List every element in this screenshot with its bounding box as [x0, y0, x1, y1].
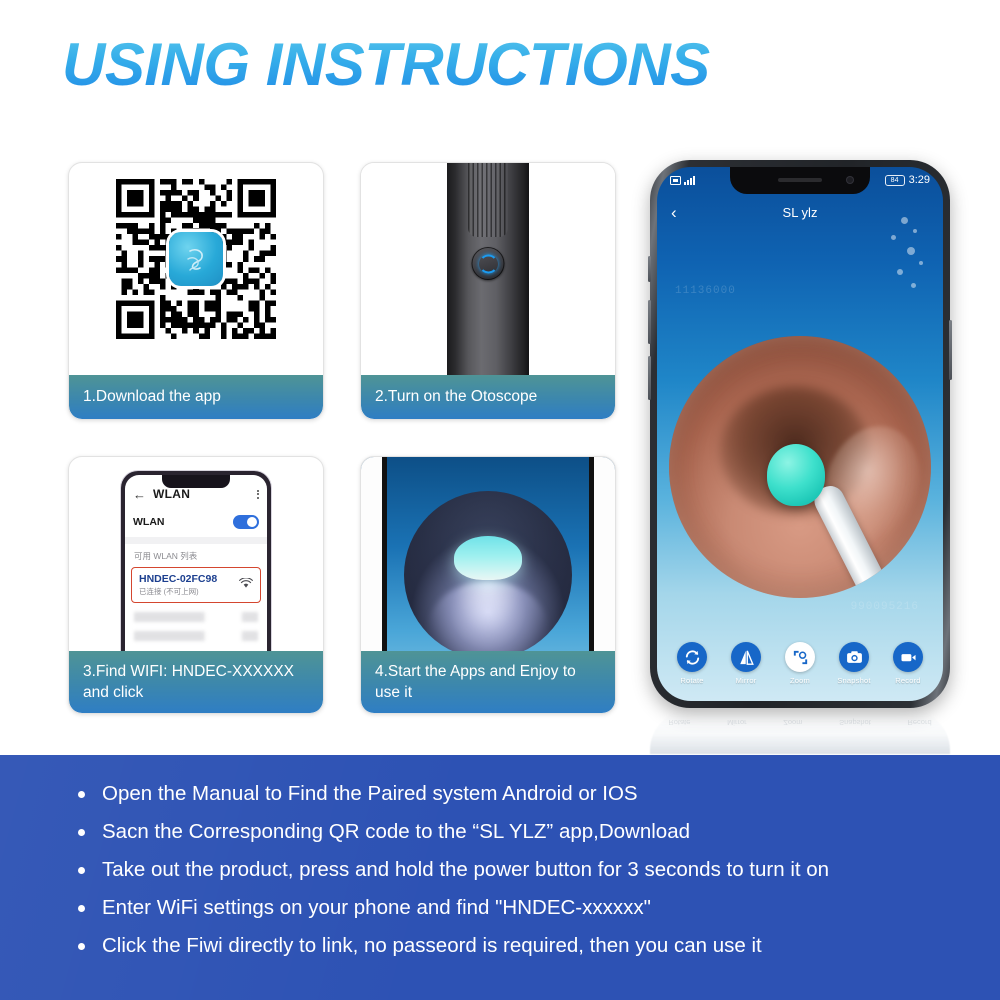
sim-card-icon — [670, 176, 681, 185]
wlan-phone-mockup: ← WLAN WLAN 可用 WLAN 列表 HNDEC-0 — [121, 471, 271, 675]
reflection-label: Snapshot — [839, 718, 871, 727]
qr-code — [116, 179, 276, 339]
toolbar-label: Rotate — [669, 676, 715, 685]
card-caption: 4.Start the Apps and Enjoy to use it — [361, 651, 615, 713]
toolbar-item-zoom[interactable]: Zoom — [777, 642, 823, 685]
card-caption: 3.Find WIFI: HNDEC-XXXXXX and click — [69, 651, 323, 713]
card-caption: 2.Turn on the Otoscope — [361, 375, 615, 419]
instruction-card-grid: 1.Download the app 2.Turn on the Otoscop… — [68, 162, 616, 714]
wifi-status: 已连接 (不可上网) — [139, 586, 217, 597]
power-button[interactable] — [472, 247, 505, 280]
wifi-icon — [239, 576, 253, 594]
app-title: SL ylz — [657, 205, 943, 220]
eardrum-highlight — [454, 536, 522, 580]
list-item: Open the Manual to Find the Paired syste… — [72, 781, 1000, 807]
camera-icon — [839, 642, 869, 672]
status-right: 84 3:29 — [885, 174, 930, 186]
chevron-left-icon[interactable]: ‹ — [671, 204, 677, 221]
reflection-label: Zoom — [783, 718, 802, 727]
arrow-left-icon[interactable]: ← — [133, 488, 146, 501]
phone-power-button — [949, 320, 952, 380]
camera-toolbar: Rotate Mirror — [657, 642, 943, 685]
app-logo-icon — [169, 232, 223, 286]
phone-reflection — [650, 710, 950, 754]
power-ring-icon — [479, 254, 498, 273]
toolbar-item-rotate[interactable]: Rotate — [669, 642, 715, 685]
wlan-title: WLAN — [153, 487, 190, 501]
instruction-bullet-list: Open the Manual to Find the Paired syste… — [72, 781, 1000, 959]
wlan-screen: ← WLAN WLAN 可用 WLAN 列表 HNDEC-0 — [125, 475, 267, 675]
toolbar-item-mirror[interactable]: Mirror — [723, 642, 769, 685]
blurred-network-row — [134, 612, 258, 622]
card-download-app[interactable]: 1.Download the app — [68, 162, 324, 420]
main-phone-mockup: 84 3:29 ‹ SL ylz 11136000 990095216 — [650, 160, 950, 708]
otoscope-handle — [447, 163, 529, 383]
status-left — [670, 176, 695, 185]
card-turn-on-otoscope[interactable]: 2.Turn on the Otoscope — [360, 162, 616, 420]
battery-icon: 84 — [885, 175, 905, 186]
probe-spoon-tip — [767, 444, 825, 506]
toolbar-label: Record — [885, 676, 931, 685]
toolbar-label: Mirror — [723, 676, 769, 685]
phone-mute-switch — [648, 256, 651, 282]
video-camera-icon — [893, 642, 923, 672]
kebab-menu-icon[interactable] — [257, 488, 259, 500]
card-find-wifi[interactable]: ← WLAN WLAN 可用 WLAN 列表 HNDEC-0 — [68, 456, 324, 714]
card-caption: 1.Download the app — [69, 375, 323, 419]
phone-notch — [162, 475, 230, 488]
list-item: Click the Fiwi directly to link, no pass… — [72, 933, 1000, 959]
section-divider — [125, 537, 267, 544]
handle-grip-texture — [468, 163, 508, 237]
list-item: Take out the product, press and hold the… — [72, 857, 1000, 883]
watermark-top: 11136000 — [675, 285, 736, 297]
mirror-icon — [731, 642, 761, 672]
toolbar-item-record[interactable]: Record — [885, 642, 931, 685]
status-time: 3:29 — [909, 174, 930, 186]
instructions-banner: Open the Manual to Find the Paired syste… — [0, 755, 1000, 1000]
rotate-icon — [677, 642, 707, 672]
light-glow — [428, 581, 548, 658]
wlan-toggle-label: WLAN — [133, 516, 165, 528]
toolbar-item-snapshot[interactable]: Snapshot — [831, 642, 877, 685]
list-item: Sacn the Corresponding QR code to the “S… — [72, 819, 1000, 845]
otoscope-circular-view — [404, 491, 572, 659]
signal-bars-icon — [684, 176, 695, 185]
phone-screen: 84 3:29 ‹ SL ylz 11136000 990095216 — [657, 167, 943, 701]
wifi-ssid: HNDEC-02FC98 — [139, 573, 217, 586]
blurred-network-row — [134, 631, 258, 641]
reflection-label: Record — [907, 718, 931, 727]
app-bar: ‹ SL ylz — [657, 197, 943, 227]
watermark-bottom: 990095216 — [851, 601, 919, 613]
toolbar-label: Snapshot — [831, 676, 877, 685]
page-title: USING INSTRUCTIONS — [62, 26, 942, 104]
page-title-text: USING INSTRUCTIONS — [62, 26, 942, 104]
wifi-network-item[interactable]: HNDEC-02FC98 已连接 (不可上网) — [131, 567, 261, 603]
reflection-label: Mirror — [727, 718, 747, 727]
wifi-network-text: HNDEC-02FC98 已连接 (不可上网) — [139, 573, 217, 597]
ear-canal-view — [669, 336, 931, 598]
wlan-toggle-switch[interactable] — [233, 515, 259, 529]
phone-volume-up-button — [648, 300, 651, 344]
reflection-label: Rotate — [668, 718, 690, 727]
list-item: Enter WiFi settings on your phone and fi… — [72, 895, 1000, 921]
status-bar: 84 3:29 — [657, 171, 943, 189]
toolbar-label: Zoom — [777, 676, 823, 685]
card-start-app[interactable]: 4.Start the Apps and Enjoy to use it — [360, 456, 616, 714]
phone-reflection-labels: Rotate Mirror Zoom Snapshot Record — [650, 718, 950, 727]
wlan-toggle-row[interactable]: WLAN — [125, 509, 267, 537]
wlan-list-header: 可用 WLAN 列表 — [125, 544, 267, 567]
zoom-icon — [785, 642, 815, 672]
phone-volume-down-button — [648, 356, 651, 400]
